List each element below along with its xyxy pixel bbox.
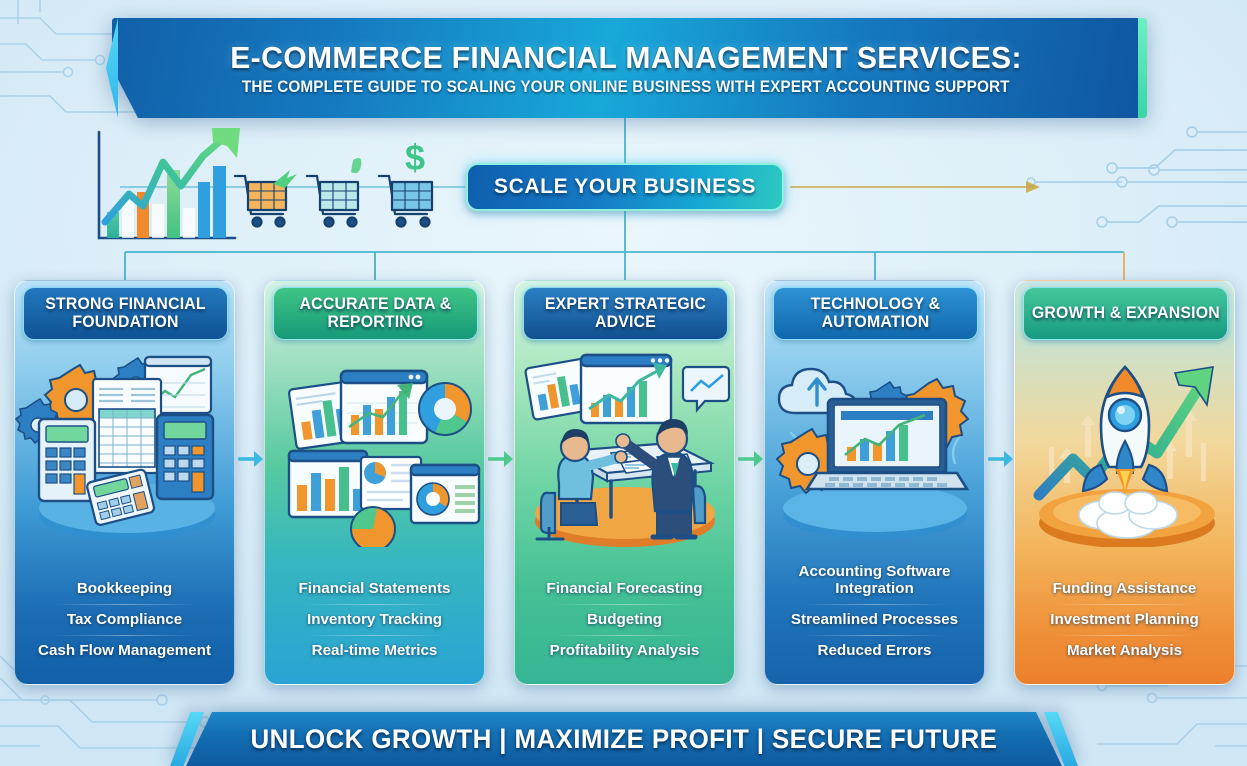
flow-arrow-icon xyxy=(738,448,764,470)
column-list-accurate-data-reporting: Financial Statements Inventory Tracking … xyxy=(271,573,478,676)
dashboard-charts-icon xyxy=(265,347,485,547)
column-technology-automation[interactable]: TECHNOLOGY & AUTOMATION xyxy=(764,280,985,685)
list-item: Cash Flow Management xyxy=(21,635,228,666)
page-title: E-COMMERCE FINANCIAL MANAGEMENT SERVICES… xyxy=(230,40,1022,76)
rocket-launch-icon xyxy=(1015,347,1235,547)
column-title: ACCURATE DATA & REPORTING xyxy=(278,296,473,330)
column-header-accurate-data-reporting: ACCURATE DATA & REPORTING xyxy=(273,287,478,340)
flow-arrow-icon xyxy=(988,448,1014,470)
infographic-canvas: E-COMMERCE FINANCIAL MANAGEMENT SERVICES… xyxy=(0,0,1247,766)
column-expert-strategic-advice[interactable]: EXPERT STRATEGIC ADVICE xyxy=(514,280,735,685)
flow-arrow-icon xyxy=(238,448,264,470)
scale-your-business-banner[interactable]: SCALE YOUR BUSINESS xyxy=(466,163,784,211)
list-item: Investment Planning xyxy=(1021,604,1228,635)
list-item: Financial Statements xyxy=(271,573,478,604)
column-title: EXPERT STRATEGIC ADVICE xyxy=(528,296,723,330)
list-item: Budgeting xyxy=(521,604,728,635)
list-item: Profitability Analysis xyxy=(521,635,728,666)
scale-banner-label: SCALE YOUR BUSINESS xyxy=(494,175,756,199)
list-item: Funding Assistance xyxy=(1021,573,1228,604)
column-strong-financial-foundation[interactable]: STRONG FINANCIAL FOUNDATION xyxy=(14,280,235,685)
laptop-cloud-gears-icon xyxy=(765,347,985,547)
column-list-technology-automation: Accounting Software Integration Streamli… xyxy=(771,556,978,676)
column-list-strong-financial-foundation: Bookkeeping Tax Compliance Cash Flow Man… xyxy=(21,573,228,676)
column-accurate-data-reporting[interactable]: ACCURATE DATA & REPORTING xyxy=(264,280,485,685)
column-header-technology-automation: TECHNOLOGY & AUTOMATION xyxy=(773,287,978,340)
column-list-expert-strategic-advice: Financial Forecasting Budgeting Profitab… xyxy=(521,573,728,676)
column-header-strong-financial-foundation: STRONG FINANCIAL FOUNDATION xyxy=(23,287,228,340)
page-subtitle: THE COMPLETE GUIDE TO SCALING YOUR ONLIN… xyxy=(242,78,1010,97)
column-title: STRONG FINANCIAL FOUNDATION xyxy=(28,296,223,330)
calculators-spreadsheet-gears-icon xyxy=(15,347,235,547)
column-header-expert-strategic-advice: EXPERT STRATEGIC ADVICE xyxy=(523,287,728,340)
bottom-banner-label: UNLOCK GROWTH | MAXIMIZE PROFIT | SECURE… xyxy=(251,724,998,755)
flow-arrow-icon xyxy=(488,448,514,470)
list-item: Tax Compliance xyxy=(21,604,228,635)
title-ribbon: E-COMMERCE FINANCIAL MANAGEMENT SERVICES… xyxy=(112,18,1140,118)
list-item: Market Analysis xyxy=(1021,635,1228,666)
list-item: Accounting Software Integration xyxy=(771,556,978,604)
column-title: TECHNOLOGY & AUTOMATION xyxy=(778,296,973,330)
column-list-growth-expansion: Funding Assistance Investment Planning M… xyxy=(1021,573,1228,676)
advisors-meeting-icon xyxy=(515,347,735,547)
column-title: GROWTH & EXPANSION xyxy=(1032,305,1220,322)
list-item: Reduced Errors xyxy=(771,635,978,666)
list-item: Real-time Metrics xyxy=(271,635,478,666)
list-item: Inventory Tracking xyxy=(271,604,478,635)
list-item: Financial Forecasting xyxy=(521,573,728,604)
column-header-growth-expansion: GROWTH & EXPANSION xyxy=(1023,287,1228,340)
list-item: Bookkeeping xyxy=(21,573,228,604)
list-item: Streamlined Processes xyxy=(771,604,978,635)
bottom-banner: UNLOCK GROWTH | MAXIMIZE PROFIT | SECURE… xyxy=(186,712,1062,766)
column-growth-expansion[interactable]: GROWTH & EXPANSION xyxy=(1014,280,1235,685)
svg-text:$: $ xyxy=(405,137,425,178)
hero-illustration: $ xyxy=(85,126,460,244)
